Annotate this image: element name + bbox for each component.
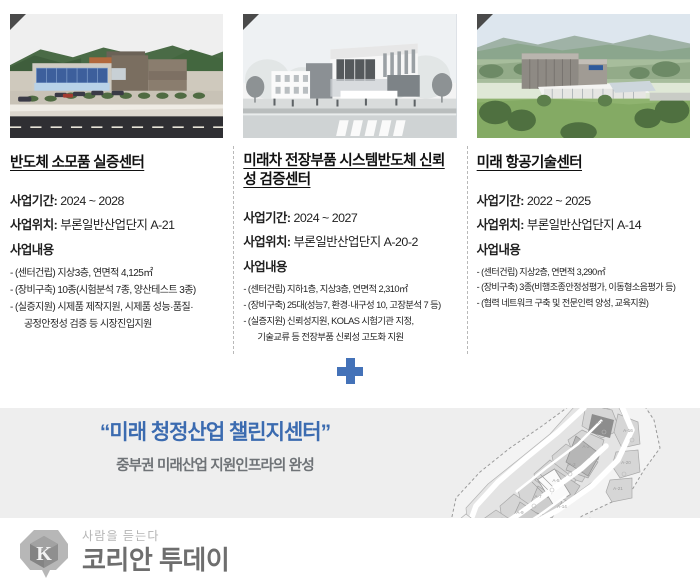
project-location-2: 사업위치: 부론일반산업단지 A-20-2 (243, 230, 456, 254)
plus-icon (337, 358, 363, 384)
project-bullets-1: - (센터건립) 지상3층, 연면적 4,125㎡ - (장비구축) 10종(시… (10, 265, 223, 334)
svg-text:A-5: A-5 (552, 478, 560, 483)
project-title-1: 반도체 소모품 실증센터 (10, 154, 223, 173)
project-column-1: 반도체 소모품 실증센터 사업기간: 2024 ~ 2028 사업위치: 부론일… (0, 0, 233, 400)
project-photo-3 (477, 14, 690, 138)
plus-divider (0, 358, 700, 389)
svg-text:A-7: A-7 (534, 494, 542, 499)
semiconductor-center-rendering-art (10, 14, 223, 138)
period-value: 2022 ~ 2025 (527, 194, 591, 208)
period-value: 2024 ~ 2027 (294, 211, 358, 225)
korean-today-k-mark-icon: K (16, 524, 72, 580)
project-bullets-3: - (센터건립) 지상2층, 연면적 3,290㎡ - (장비구축) 3종(비행… (477, 265, 690, 312)
svg-text:A-2: A-2 (582, 444, 590, 449)
project-period-3: 사업기간: 2022 ~ 2025 (477, 189, 690, 213)
bullet-item: - (센터건립) 지상3층, 연면적 4,125㎡ (10, 265, 223, 282)
photo-corner-fold-icon (10, 14, 26, 30)
project-meta-3: 사업기간: 2022 ~ 2025 사업위치: 부론일반산업단지 A-14 사업… (477, 189, 690, 262)
bullet-item: - (협력 네트워크 구축 및 전문인력 양성, 교육지원) (477, 296, 690, 312)
bullet-item: - (센터건립) 지하1층, 지상3층, 연면적 2,310㎡ (243, 282, 456, 298)
svg-text:공원: 공원 (602, 408, 610, 409)
logo-tagline: 사람을 듣는다 (82, 530, 229, 542)
bullet-item: - (장비구축) 3종(비행조종안정성평가, 이동형소음평가 등) (477, 280, 690, 296)
project-column-3: 미래 항공기술센터 사업기간: 2022 ~ 2025 사업위치: 부론일반산업… (467, 0, 700, 400)
location-value: 부론일반산업단지 A-14 (527, 218, 641, 232)
location-label: 사업위치: (477, 218, 524, 232)
project-content-label-1: 사업내용 (10, 238, 223, 262)
industrial-complex-site-plan-map: A-1A-2 A-3A-5 A-7A-9 A-12A-16 A-20A-21 A… (406, 408, 700, 518)
bullet-item: - (장비구축) 25대(성능7, 환경·내구성 10, 고장분석 7 등) (243, 298, 456, 314)
korean-today-logo[interactable]: K 사람을 듣는다 코리안 투데이 (16, 524, 229, 580)
location-label: 사업위치: (10, 218, 57, 232)
banner-title: “미래 청정산업 챌린지센터” (0, 420, 430, 445)
aviation-technology-center-rendering-art (477, 14, 690, 138)
svg-text:A-1: A-1 (595, 420, 603, 425)
bullet-item: - (센터건립) 지상2층, 연면적 3,290㎡ (477, 265, 690, 281)
svg-text:A-9: A-9 (516, 510, 524, 515)
photo-corner-fold-icon (477, 14, 493, 30)
svg-text:A-21: A-21 (613, 486, 623, 491)
banner-text-block: “미래 청정산업 챌린지센터” 중부권 미래산업 지원인프라의 완성 (0, 420, 430, 475)
svg-text:A-3: A-3 (568, 462, 576, 467)
period-label: 사업기간: (477, 194, 524, 208)
project-bullets-2: - (센터건립) 지하1층, 지상3층, 연면적 2,310㎡ - (장비구축)… (243, 282, 456, 346)
period-label: 사업기간: (10, 194, 57, 208)
project-content-label-2: 사업내용 (243, 255, 456, 279)
project-columns: 반도체 소모품 실증센터 사업기간: 2024 ~ 2028 사업위치: 부론일… (0, 0, 700, 400)
project-period-2: 사업기간: 2024 ~ 2027 (243, 206, 456, 230)
bullet-item: - (장비구축) 10종(시험분석 7종, 양산테스트 3종) (10, 282, 223, 299)
svg-text:A-20: A-20 (621, 460, 631, 465)
photo-corner-fold-icon (243, 14, 259, 30)
logo-name: 코리안 투데이 (82, 547, 229, 574)
project-title-2: 미래차 전장부품 시스템반도체 신뢰성 검증센터 (243, 152, 456, 190)
project-content-label-3: 사업내용 (477, 238, 690, 262)
project-column-2: 미래차 전장부품 시스템반도체 신뢰성 검증센터 사업기간: 2024 ~ 20… (233, 0, 466, 400)
bullet-item: - (실증지원) 신뢰성지원, KOLAS 시험기관 지정, (243, 314, 456, 330)
project-period-1: 사업기간: 2024 ~ 2028 (10, 189, 223, 213)
project-meta-1: 사업기간: 2024 ~ 2028 사업위치: 부론일반산업단지 A-21 사업… (10, 189, 223, 262)
project-location-3: 사업위치: 부론일반산업단지 A-14 (477, 213, 690, 237)
location-label: 사업위치: (243, 235, 290, 249)
bullet-continuation: 기술교류 등 전장부품 신뢰성 고도화 지원 (243, 330, 456, 346)
location-value: 부론일반산업단지 A-21 (60, 218, 174, 232)
logo-strip: K 사람을 듣는다 코리안 투데이 (0, 518, 700, 585)
bullet-item: - (실증지원) 시제품 제작지원, 시제품 성능·품질· (10, 299, 223, 316)
period-label: 사업기간: (243, 211, 290, 225)
project-location-1: 사업위치: 부론일반산업단지 A-21 (10, 213, 223, 237)
location-value: 부론일반산업단지 A-20-2 (294, 235, 418, 249)
project-meta-2: 사업기간: 2024 ~ 2027 사업위치: 부론일반산업단지 A-20-2 … (243, 206, 456, 279)
bullet-continuation: 공정안정성 검증 등 시장진입지원 (10, 316, 223, 333)
svg-text:K: K (36, 543, 52, 565)
project-photo-2 (243, 14, 456, 138)
banner-subtitle: 중부권 미래산업 지원인프라의 완성 (0, 454, 430, 475)
logo-wordmark: 사람을 듣는다 코리안 투데이 (82, 530, 229, 574)
svg-text:A-16: A-16 (623, 428, 633, 433)
period-value: 2024 ~ 2028 (60, 194, 124, 208)
svg-text:A-14: A-14 (557, 504, 567, 509)
summary-banner: “미래 청정산업 챌린지센터” 중부권 미래산업 지원인프라의 완성 (0, 408, 700, 518)
project-title-3: 미래 항공기술센터 (477, 154, 690, 173)
project-photo-1 (10, 14, 223, 138)
system-semiconductor-center-rendering-art (243, 14, 456, 138)
